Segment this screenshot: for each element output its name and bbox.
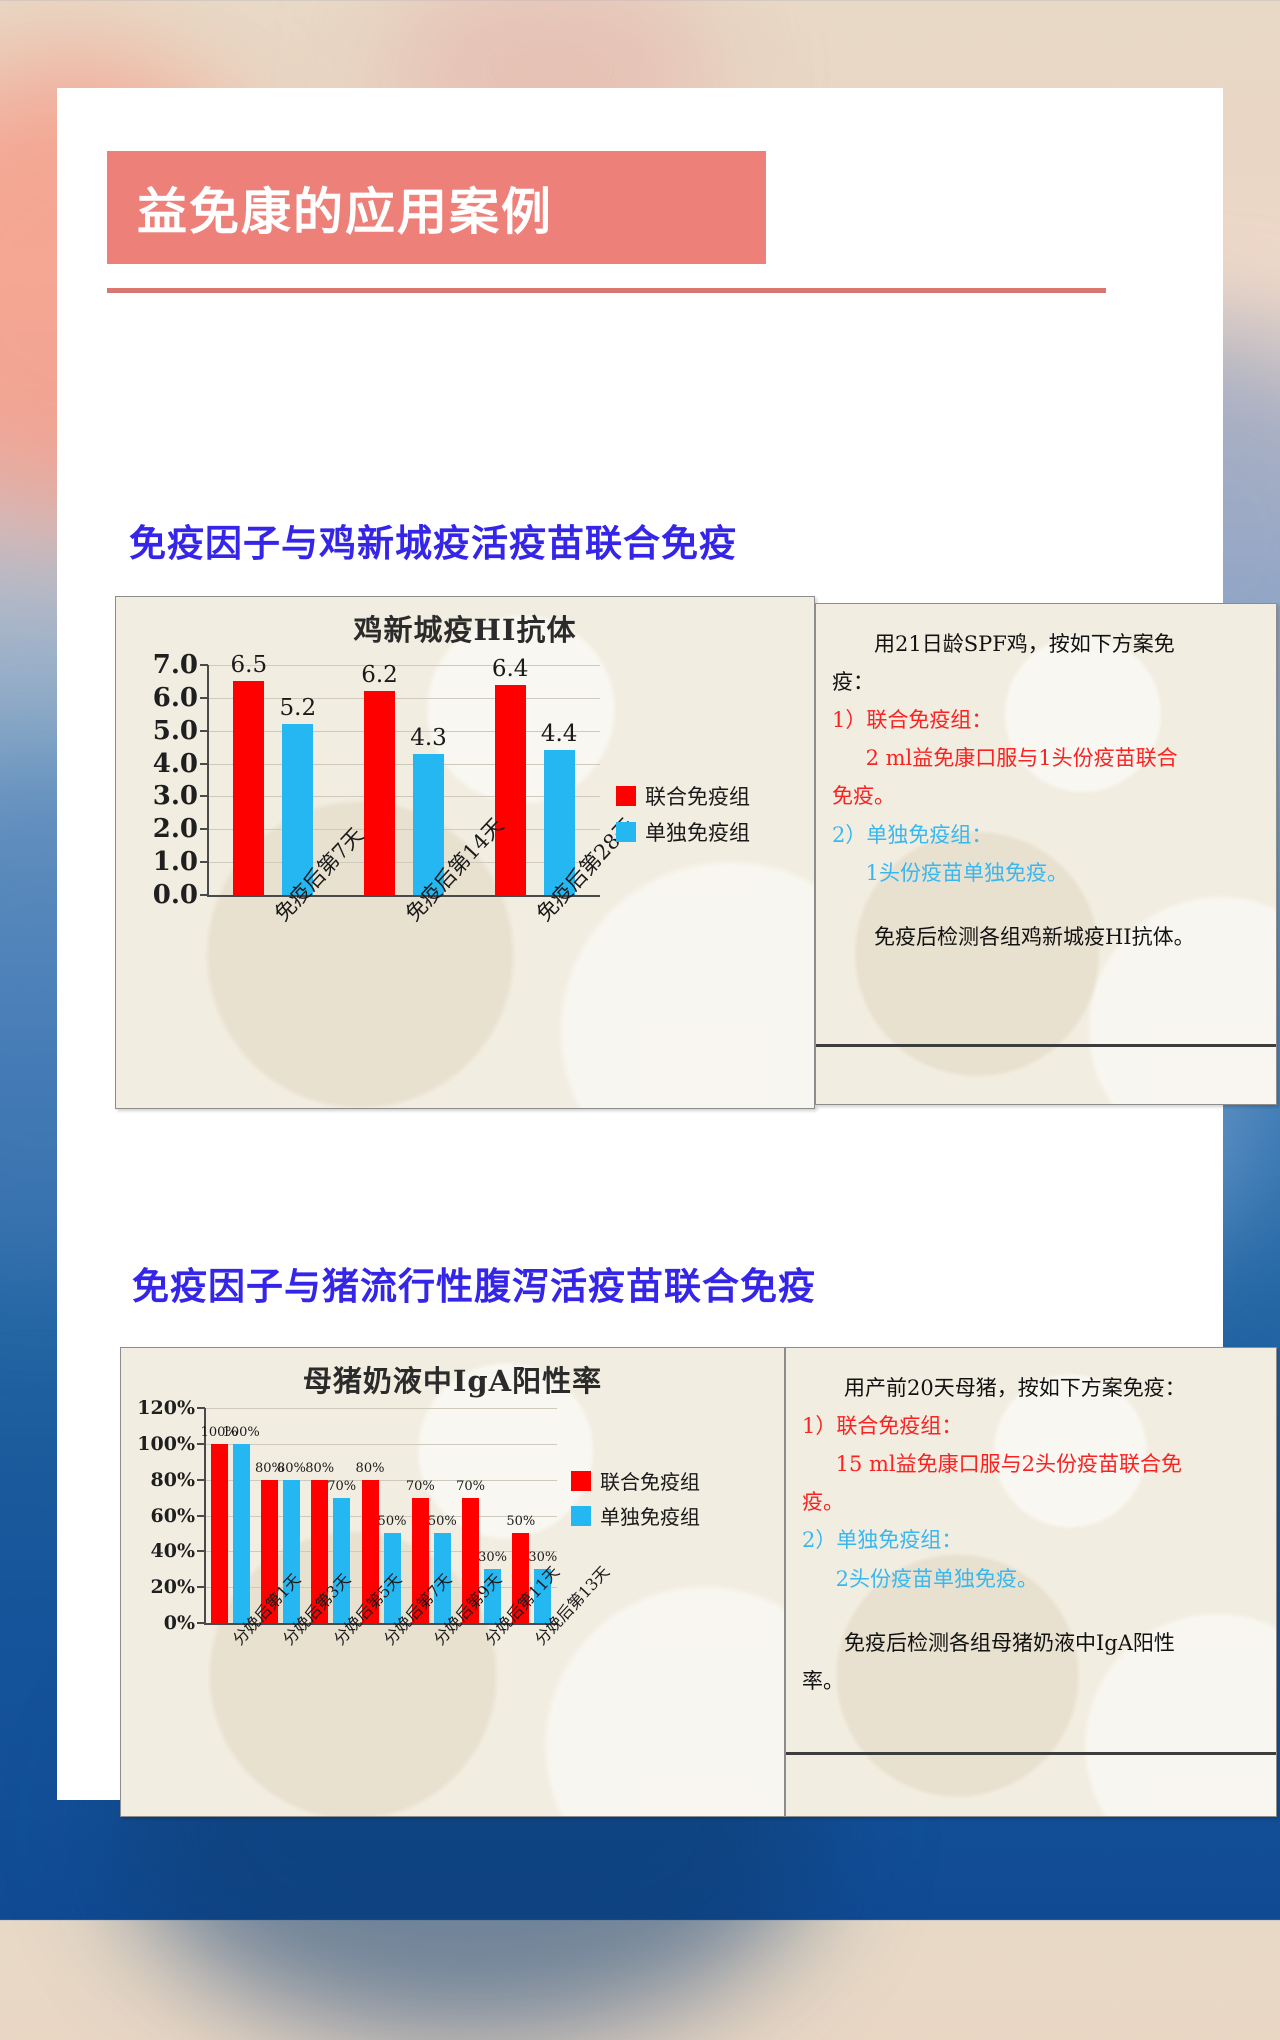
- bar: [233, 1444, 250, 1623]
- y-axis-tick-label: 3.0: [153, 781, 198, 811]
- bar-value-label: 4.3: [410, 725, 447, 751]
- note-line: 疫：: [832, 664, 1260, 700]
- legend-item: 联合免疫组: [571, 1466, 700, 1495]
- note-line: 免疫。: [832, 778, 1260, 814]
- y-axis-tick-label: 0%: [164, 1612, 195, 1634]
- bar-value-label: 80%: [277, 1461, 306, 1476]
- chart-hi-antibody: 鸡新城疫HI抗体6.55.26.24.36.44.40.01.02.03.04.…: [116, 597, 814, 1108]
- legend-swatch-combined: [571, 1471, 591, 1491]
- bar-value-label: 6.5: [231, 652, 268, 678]
- note-panel-divider: [786, 1752, 1276, 1755]
- chart-panel-iga: 母猪奶液中IgA阳性率100%100%80%80%80%70%80%50%70%…: [120, 1347, 785, 1817]
- chart-title: 母猪奶液中IgA阳性率: [121, 1348, 784, 1400]
- y-axis-line: [204, 1408, 206, 1623]
- bar: [495, 685, 526, 895]
- note-line: 2头份疫苗单独免疫。: [802, 1561, 1260, 1597]
- legend-label: 单独免疫组: [600, 1501, 700, 1530]
- y-axis: 0%20%40%60%80%100%120%: [133, 1408, 195, 1623]
- chart-legend: 联合免疫组单独免疫组: [571, 1466, 700, 1536]
- note-line-group-combined: 1）联合免疫组：: [832, 702, 1260, 738]
- y-axis-tick-label: 40%: [151, 1540, 196, 1562]
- y-axis-tick-label: 60%: [151, 1505, 196, 1527]
- y-axis-tick-label: 4.0: [153, 749, 198, 779]
- note-line-group-single: 2）单独免疫组：: [832, 817, 1260, 853]
- gridline: [205, 1480, 557, 1481]
- bar: [333, 1498, 350, 1623]
- gridline: [208, 698, 600, 699]
- y-axis-tick-label: 7.0: [153, 650, 198, 680]
- note-line: 率。: [802, 1663, 1260, 1699]
- note-panel-sow: 用产前20天母猪，按如下方案免疫： 1）联合免疫组： 15 ml益免康口服与2头…: [785, 1347, 1277, 1817]
- chart-iga-positive-rate: 母猪奶液中IgA阳性率100%100%80%80%80%70%80%50%70%…: [121, 1348, 784, 1816]
- chart-legend: 联合免疫组单独免疫组: [616, 781, 750, 853]
- note-line: 疫。: [802, 1484, 1260, 1520]
- y-axis-tick-label: 5.0: [153, 716, 198, 746]
- legend-swatch-single: [571, 1506, 591, 1526]
- gridline: [208, 796, 600, 797]
- legend-label: 联合免疫组: [645, 781, 750, 811]
- note-body-chicken: 用21日龄SPF鸡，按如下方案免 疫： 1）联合免疫组： 2 ml益免康口服与1…: [816, 604, 1276, 967]
- bar-value-label: 30%: [478, 1550, 507, 1565]
- y-axis-tick-label: 2.0: [153, 814, 198, 844]
- gridline: [208, 829, 600, 830]
- bar-value-label: 70%: [456, 1479, 485, 1494]
- slide-canvas: 益免康的应用案例 免疫因子与鸡新城疫活疫苗联合免疫 鸡新城疫HI抗体6.55.2…: [57, 88, 1223, 1800]
- plot-area: 6.55.26.24.36.44.4: [208, 665, 600, 895]
- note-spacer: [832, 893, 1260, 919]
- y-axis-tick-label: 20%: [151, 1576, 196, 1598]
- note-line: 用21日龄SPF鸡，按如下方案免: [832, 626, 1260, 662]
- section-heading-2: 免疫因子与猪流行性腹泻活疫苗联合免疫: [132, 1256, 816, 1310]
- bar: [211, 1444, 228, 1623]
- bar-value-label: 6.2: [361, 662, 398, 688]
- bar: [364, 691, 395, 895]
- note-line-group-single: 2）单独免疫组：: [802, 1522, 1260, 1558]
- note-line: 15 ml益免康口服与2头份疫苗联合免: [802, 1446, 1260, 1482]
- title-banner: 益免康的应用案例: [107, 151, 766, 264]
- bar-value-label: 70%: [327, 1479, 356, 1494]
- bar-value-label: 80%: [305, 1461, 334, 1476]
- legend-label: 联合免疫组: [600, 1466, 700, 1495]
- bar-value-label: 80%: [356, 1461, 385, 1476]
- chart-title: 鸡新城疫HI抗体: [116, 597, 814, 649]
- note-line: 1头份疫苗单独免疫。: [832, 855, 1260, 891]
- bar-value-label: 50%: [378, 1514, 407, 1529]
- note-line-conclusion: 免疫后检测各组鸡新城疫HI抗体。: [832, 919, 1260, 955]
- note-line-group-combined: 1）联合免疫组：: [802, 1408, 1260, 1444]
- note-line-conclusion: 免疫后检测各组母猪奶液中IgA阳性: [802, 1625, 1260, 1661]
- page-title: 益免康的应用案例: [107, 172, 553, 244]
- y-axis-tick-label: 80%: [151, 1469, 196, 1491]
- y-axis-line: [207, 665, 209, 895]
- note-line: 用产前20天母猪，按如下方案免疫：: [802, 1370, 1260, 1406]
- legend-item: 单独免疫组: [571, 1501, 700, 1530]
- legend-swatch-single: [616, 822, 636, 842]
- y-axis-tick-label: 0.0: [153, 880, 198, 910]
- gridline: [205, 1408, 557, 1409]
- y-axis: 0.01.02.03.04.05.06.07.0: [136, 665, 198, 895]
- y-axis-tick-label: 1.0: [153, 847, 198, 877]
- note-line: 2 ml益免康口服与1头份疫苗联合: [832, 740, 1260, 776]
- legend-item: 单独免疫组: [616, 817, 750, 847]
- gridline: [208, 862, 600, 863]
- y-axis-tick-label: 120%: [137, 1397, 195, 1419]
- chart-panel-hi-antibody: 鸡新城疫HI抗体6.55.26.24.36.44.40.01.02.03.04.…: [115, 596, 815, 1109]
- note-panel-chicken: 用21日龄SPF鸡，按如下方案免 疫： 1）联合免疫组： 2 ml益免康口服与1…: [815, 603, 1277, 1105]
- note-body-sow: 用产前20天母猪，按如下方案免疫： 1）联合免疫组： 15 ml益免康口服与2头…: [786, 1348, 1276, 1711]
- bar-value-label: 4.4: [541, 721, 578, 747]
- bar-value-label: 6.4: [492, 656, 529, 682]
- y-axis-tick-label: 6.0: [153, 683, 198, 713]
- y-axis-tick-label: 100%: [137, 1433, 195, 1455]
- title-underline-rule: [107, 288, 1106, 293]
- legend-item: 联合免疫组: [616, 781, 750, 811]
- bar-value-label: 50%: [428, 1514, 457, 1529]
- note-spacer: [802, 1599, 1260, 1625]
- bar-value-label: 70%: [406, 1479, 435, 1494]
- gridline: [208, 764, 600, 765]
- bar-value-label: 5.2: [280, 695, 317, 721]
- legend-swatch-combined: [616, 786, 636, 806]
- bar-value-label: 50%: [506, 1514, 535, 1529]
- note-panel-divider: [816, 1044, 1276, 1047]
- section-heading-1: 免疫因子与鸡新城疫活疫苗联合免疫: [129, 513, 737, 567]
- gridline: [205, 1444, 557, 1445]
- legend-label: 单独免疫组: [645, 817, 750, 847]
- bar: [233, 681, 264, 895]
- bar-value-label: 100%: [223, 1425, 260, 1440]
